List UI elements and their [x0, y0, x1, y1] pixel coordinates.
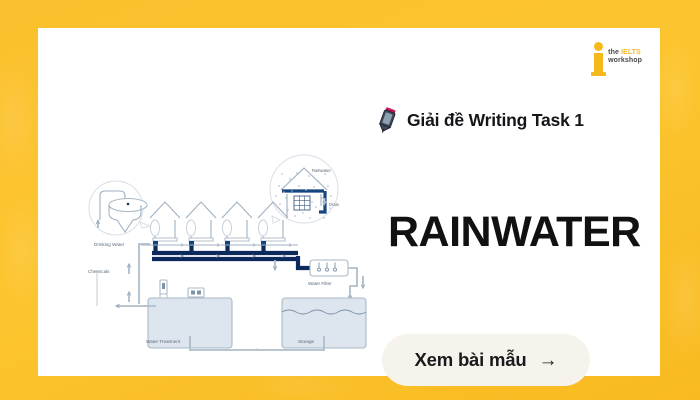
view-sample-button[interactable]: Xem bài mẫu → [382, 334, 590, 386]
label-drinking-water: Drinking Water [94, 242, 125, 247]
label-drain: Drain [329, 202, 340, 207]
subheading: Giải đề Writing Task 1 [376, 106, 584, 134]
content-card: the IELTS workshop .ln { fill:none; stro… [38, 28, 660, 376]
label-water-filter: Water Filter [308, 281, 332, 286]
page-title: RAINWATER [388, 208, 641, 257]
subheading-text: Giải đề Writing Task 1 [407, 110, 584, 131]
right-column: Giải đề Writing Task 1 RAINWATER Xem bài… [368, 56, 698, 400]
label-storage: Storage [298, 339, 315, 344]
label-water-treatment: Water Treatment [146, 339, 181, 344]
label-chemicals: Chemicals [88, 269, 110, 274]
pen-icon [376, 106, 398, 134]
logo-dot [594, 42, 603, 51]
logo-line1-accent: IELTS [621, 49, 641, 56]
label-rainwater: Rainwater [312, 168, 331, 173]
arrow-right-icon: → [538, 351, 557, 370]
yellow-frame: the IELTS workshop .ln { fill:none; stro… [0, 0, 700, 400]
logo-line1-prefix: the [608, 49, 621, 56]
view-sample-button-label: Xem bài mẫu [415, 349, 527, 371]
rainwater-harvesting-diagram: .ln { fill:none; stroke:#9FB0C0; stroke-… [76, 146, 376, 351]
